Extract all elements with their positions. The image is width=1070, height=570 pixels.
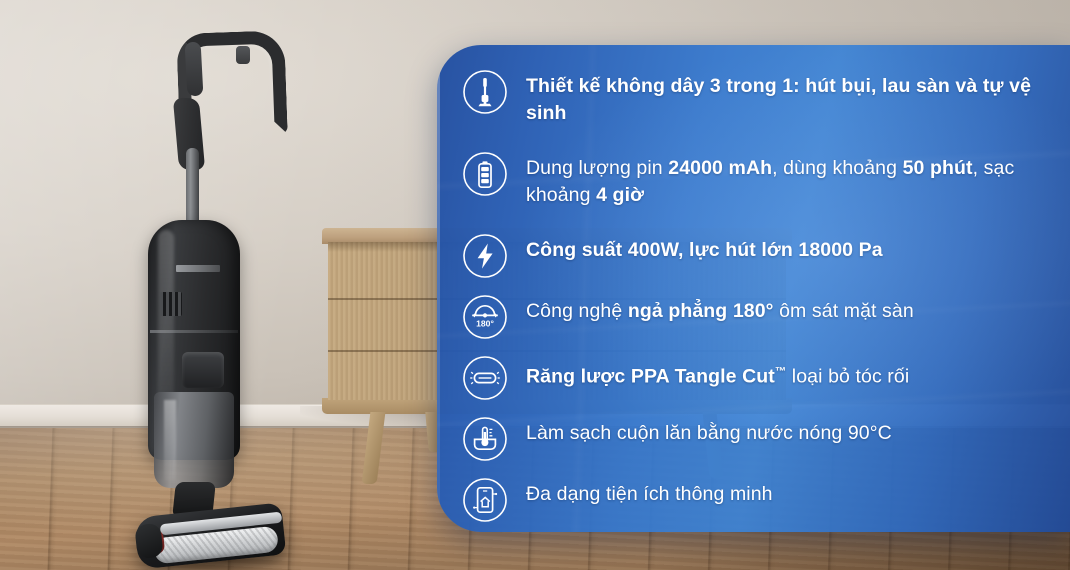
feature-text: Dung lượng pin 24000 mAh, dùng khoảng 50… (526, 149, 1062, 209)
smart-phone-icon (462, 477, 508, 523)
vacuum-grip (185, 42, 204, 97)
vacuum-cleaner-product (120, 20, 340, 570)
vacuum-brand-logo (176, 265, 220, 272)
feature-text: Đa dạng tiện ích thông minh (526, 475, 1062, 508)
feature-row-hot-water: Làm sạch cuộn lăn bằng nước nóng 90°C (462, 414, 1062, 471)
feature-row-design: Thiết kế không dây 3 trong 1: hút bụi, l… (462, 67, 1062, 145)
feature-rows: Thiết kế không dây 3 trong 1: hút bụi, l… (462, 67, 1062, 532)
feature-text: Thiết kế không dây 3 trong 1: hút bụi, l… (526, 67, 1062, 127)
vacuum-cleaner-icon (462, 69, 508, 115)
panel-left-edge-highlight (437, 45, 440, 532)
feature-text: Công nghệ ngả phẳng 180° ôm sát mặt sàn (526, 292, 1062, 325)
feature-text: Răng lược PPA Tangle Cut™ loại bỏ tóc rố… (526, 353, 1062, 391)
feature-row-battery: Dung lượng pin 24000 mAh, dùng khoảng 50… (462, 149, 1062, 227)
feature-text: Làm sạch cuộn lăn bằng nước nóng 90°C (526, 414, 1062, 447)
feature-row-power: Công suất 400W, lực hút lớn 18000 Pa (462, 231, 1062, 288)
feature-row-tangle-cut: Răng lược PPA Tangle Cut™ loại bỏ tóc rố… (462, 353, 1062, 410)
brush-roller-icon (462, 355, 508, 401)
vacuum-seam-ring (150, 330, 238, 333)
feature-text: Công suất 400W, lực hút lớn 18000 Pa (526, 231, 1062, 264)
battery-icon (462, 151, 508, 197)
feature-list-panel: Thiết kế không dây 3 trong 1: hút bụi, l… (437, 45, 1070, 532)
vacuum-head-end-cap (134, 523, 163, 560)
angle-180-icon: 180° (462, 294, 508, 340)
vacuum-power-button (236, 46, 250, 64)
feature-row-smart: Đa dạng tiện ích thông minh (462, 475, 1062, 532)
feature-row-lay-flat: 180° Công nghệ ngả phẳng 180° ôm sát mặt… (462, 292, 1062, 349)
lightning-bolt-icon (462, 233, 508, 279)
vacuum-tank-gloss (164, 400, 176, 480)
vacuum-tank-latch (182, 352, 224, 388)
product-feature-banner: Thiết kế không dây 3 trong 1: hút bụi, l… (0, 0, 1070, 570)
svg-text:180°: 180° (476, 319, 494, 329)
thermometer-basin-icon (462, 416, 508, 462)
vacuum-vent (160, 292, 182, 316)
